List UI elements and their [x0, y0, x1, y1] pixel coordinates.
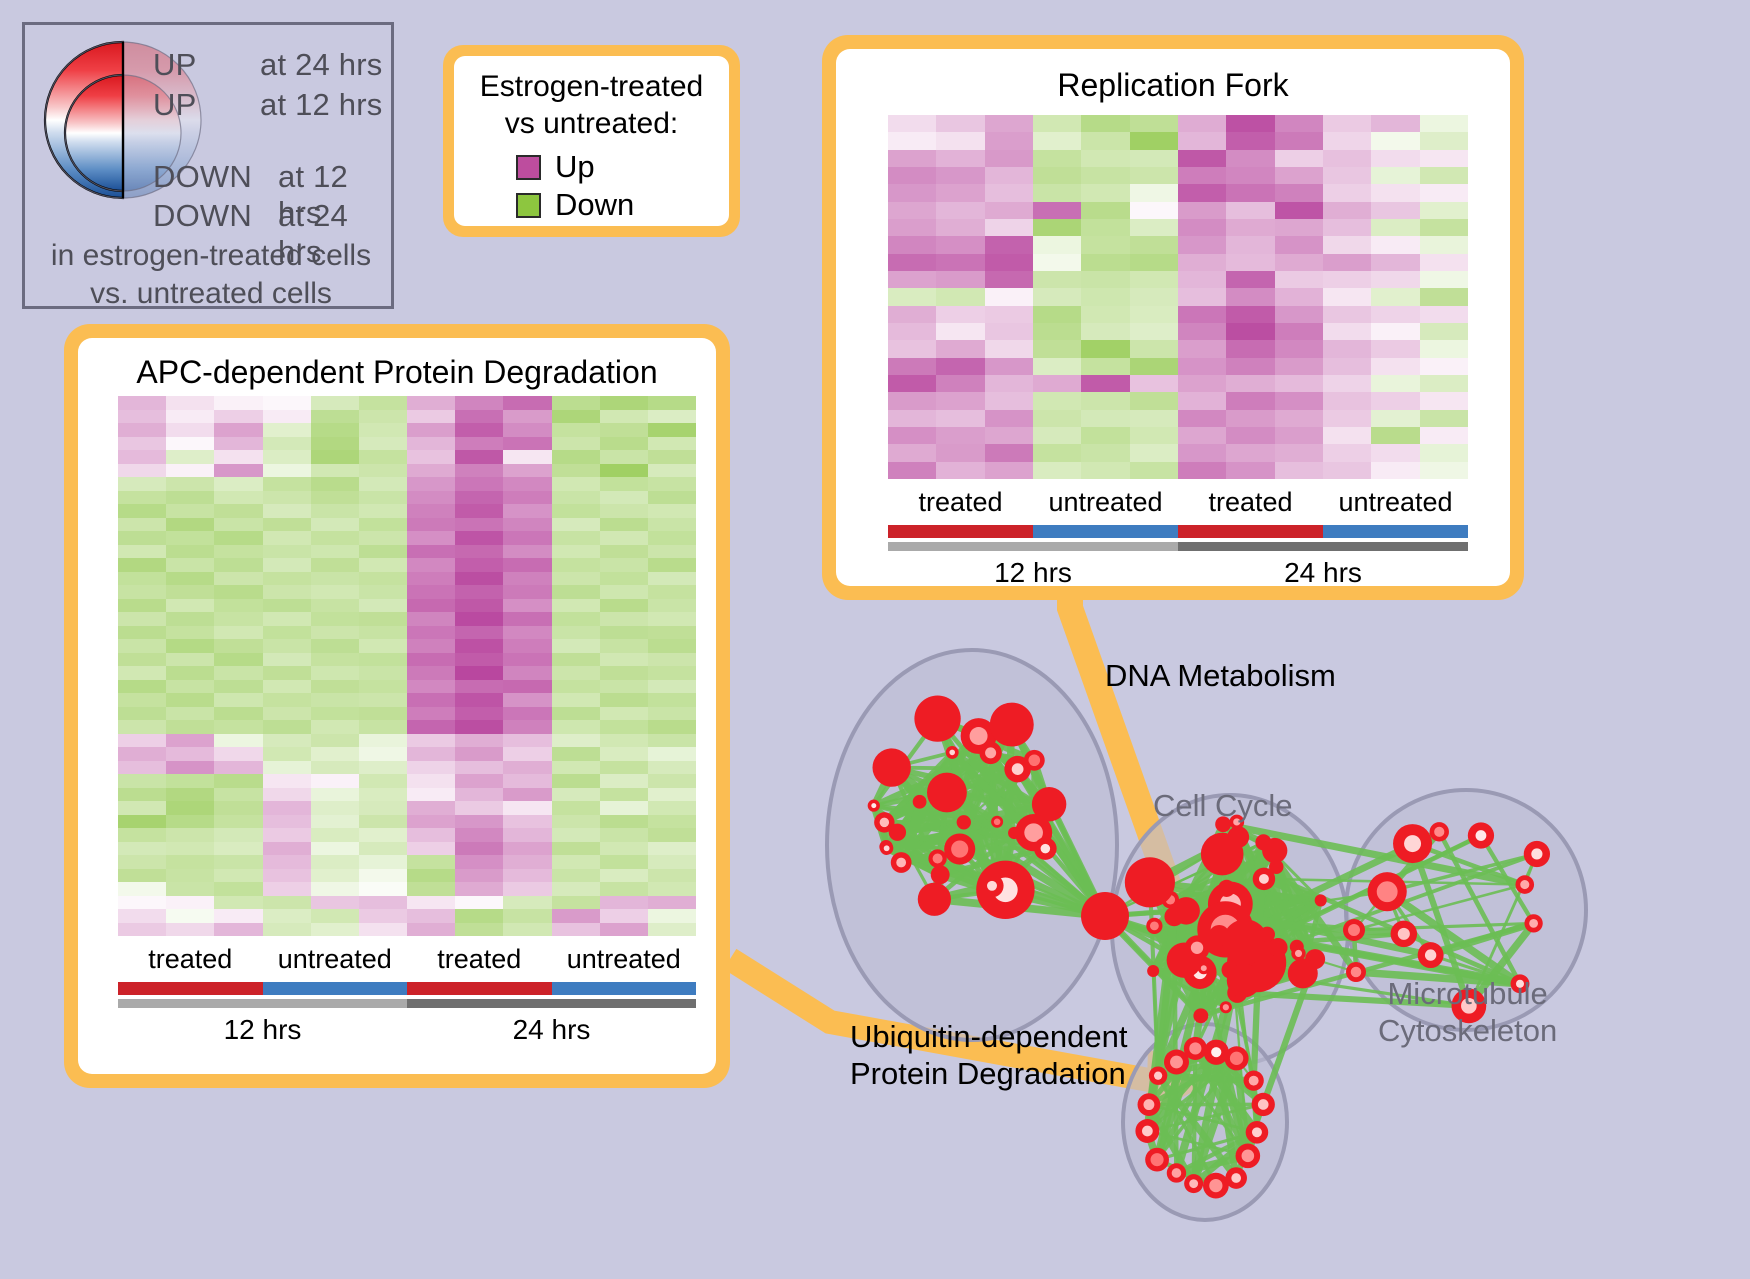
heatmap-cell [407, 518, 455, 532]
heatmap-cell [648, 477, 696, 491]
heatmap-cell [118, 464, 166, 478]
heatmap-cell [214, 612, 262, 626]
network-node[interactable] [1184, 1174, 1203, 1193]
network-node[interactable] [1225, 1046, 1249, 1070]
heatmap-cell [552, 612, 600, 626]
heatmap-cell [359, 518, 407, 532]
network-node[interactable] [931, 865, 950, 884]
heatmap-cell [936, 444, 984, 461]
heatmap-cell [1420, 202, 1468, 219]
heatmap-cell [166, 599, 214, 613]
heatmap-replication-treatment-bars [888, 525, 1468, 538]
heatmap-cell [1081, 427, 1129, 444]
heatmap-cell [455, 437, 503, 451]
heatmap-cell [985, 462, 1033, 479]
heatmap-cell [648, 558, 696, 572]
heatmap-cell [1275, 271, 1323, 288]
heatmap-cell [263, 815, 311, 829]
network-node[interactable] [1368, 872, 1407, 911]
network-node[interactable] [1203, 1173, 1229, 1199]
heatmap-cell [263, 896, 311, 910]
network-node[interactable] [1164, 907, 1183, 926]
heatmap-cell [503, 896, 551, 910]
heatmap-cell [455, 815, 503, 829]
heatmap-cell [166, 585, 214, 599]
heatmap-cell [263, 558, 311, 572]
heatmap-cell [166, 869, 214, 883]
heatmap-cell [1178, 288, 1226, 305]
heatmap-cell [118, 828, 166, 842]
heatmap-cell [936, 306, 984, 323]
heatmap-cell [214, 545, 262, 559]
network-node[interactable] [1524, 914, 1542, 932]
heatmap-cell [503, 572, 551, 586]
heatmap-cell [311, 410, 359, 424]
network-node[interactable] [1167, 1163, 1186, 1182]
heatmap-cell [1130, 306, 1178, 323]
treatment-color-bar [552, 982, 697, 995]
heatmap-cell [503, 774, 551, 788]
network-node[interactable] [880, 842, 893, 855]
heatmap-cell [1323, 410, 1371, 427]
heatmap-cell [311, 450, 359, 464]
heatmap-cell [936, 184, 984, 201]
heatmap-cell [1323, 375, 1371, 392]
network-node[interactable] [1004, 756, 1031, 783]
heatmap-cell [263, 842, 311, 856]
heatmap-cell [1420, 306, 1468, 323]
heatmap-cell [455, 801, 503, 815]
heatmap-cell [214, 410, 262, 424]
heatmap-cell [1371, 184, 1419, 201]
heatmap-cell [1178, 115, 1226, 132]
heatmap-cell [214, 693, 262, 707]
heatmap-cell [166, 558, 214, 572]
heatmap-cell [1033, 375, 1081, 392]
heatmap-cell [936, 323, 984, 340]
heatmap-cell [1275, 167, 1323, 184]
heatmap-cell [1275, 323, 1323, 340]
network-node[interactable] [1524, 841, 1550, 867]
heatmap-cell [600, 747, 648, 761]
network-node[interactable] [1227, 964, 1261, 998]
heatmap-cell [1323, 323, 1371, 340]
heatmap-cell [1420, 427, 1468, 444]
heatmap-cell [936, 254, 984, 271]
heatmap-cell [1275, 427, 1323, 444]
network-node[interactable] [957, 815, 971, 829]
cluster-label-ubiquitin-degradation: Ubiquitin-dependent Protein Degradation [850, 1018, 1128, 1092]
heatmap-cell [407, 599, 455, 613]
heatmap-cell [985, 323, 1033, 340]
heatmap-cell [263, 437, 311, 451]
heatmap-cell [455, 869, 503, 883]
heatmap-cell [263, 639, 311, 653]
heatmap-cell [1420, 150, 1468, 167]
network-node[interactable] [1138, 1093, 1161, 1116]
heatmap-cell [359, 747, 407, 761]
heatmap-cell [1275, 184, 1323, 201]
network-node[interactable] [1201, 833, 1244, 876]
heatmap-cell [214, 761, 262, 775]
heatmap-cell [503, 545, 551, 559]
heatmap-cell [648, 720, 696, 734]
network-node[interactable] [1246, 1121, 1269, 1144]
heatmap-cell [985, 271, 1033, 288]
treatment-label: treated [407, 944, 552, 975]
treatment-color-bar [888, 525, 1033, 538]
network-node[interactable] [1034, 837, 1057, 860]
heatmap-cell [1420, 254, 1468, 271]
network-node[interactable] [946, 746, 959, 759]
heatmap-cell [888, 375, 936, 392]
network-node[interactable] [1244, 1071, 1264, 1091]
heatmap-cell [1178, 202, 1226, 219]
heatmap-cell [1081, 115, 1129, 132]
heatmap-cell [1371, 254, 1419, 271]
heatmap-cell [1033, 254, 1081, 271]
heatmap-cell [1033, 202, 1081, 219]
network-node[interactable] [1135, 1119, 1159, 1143]
heatmap-cell [648, 437, 696, 451]
heatmap-cell [1275, 358, 1323, 375]
heatmap-cell [1371, 444, 1419, 461]
heatmap-cell [1130, 323, 1178, 340]
heatmap-cell [600, 626, 648, 640]
heatmap-cell [503, 504, 551, 518]
heatmap-cell [600, 801, 648, 815]
heatmap-cell [600, 828, 648, 842]
heatmap-cell [359, 653, 407, 667]
heatmap-cell [166, 666, 214, 680]
heatmap-cell [263, 585, 311, 599]
treatment-color-bar [1033, 525, 1178, 538]
heatmap-cell [214, 423, 262, 437]
network-node[interactable] [918, 883, 951, 916]
heatmap-cell [263, 531, 311, 545]
network-node[interactable] [990, 703, 1034, 747]
heatmap-cell [118, 545, 166, 559]
heatmap-cell [1323, 462, 1371, 479]
network-node[interactable] [1125, 857, 1175, 907]
heatmap-cell [1275, 115, 1323, 132]
heatmap-cell [1420, 184, 1468, 201]
legend-item-up: Up [516, 149, 729, 185]
heatmap-cell [648, 734, 696, 748]
heatmap-cell [985, 288, 1033, 305]
heatmap-cell [214, 396, 262, 410]
legend-direction-down-24: DOWN [153, 198, 252, 234]
network-node[interactable] [1218, 880, 1235, 897]
heatmap-cell [359, 788, 407, 802]
network-node[interactable] [891, 852, 912, 873]
heatmap-replication-time-bars [888, 542, 1468, 551]
network-node[interactable] [1252, 1093, 1275, 1116]
heatmap-cell [166, 801, 214, 815]
heatmap-cell [1033, 444, 1081, 461]
heatmap-cell [359, 882, 407, 896]
heatmap-cell [600, 734, 648, 748]
heatmap-cell [263, 734, 311, 748]
heatmap-cell [1275, 462, 1323, 479]
heatmap-cell [1226, 306, 1274, 323]
heatmap-cell [263, 693, 311, 707]
heatmap-cell [1130, 410, 1178, 427]
heatmap-cell [407, 734, 455, 748]
heatmap-cell [166, 707, 214, 721]
network-node[interactable] [1220, 1001, 1232, 1013]
heatmap-cell [1081, 288, 1129, 305]
network-node[interactable] [1223, 919, 1268, 964]
heatmap-cell [600, 585, 648, 599]
heatmap-cell [552, 801, 600, 815]
panel-apc-sheet: APC-dependent Protein Degradation treate… [78, 338, 716, 1074]
heatmap-cell [648, 572, 696, 586]
heatmap-cell [1081, 375, 1129, 392]
heatmap-cell [552, 788, 600, 802]
legend-direction-up-12: UP [153, 87, 196, 123]
heatmap-cell [214, 464, 262, 478]
heatmap-cell [455, 774, 503, 788]
heatmap-cell [1226, 392, 1274, 409]
heatmap-cell [311, 626, 359, 640]
heatmap-cell [1323, 392, 1371, 409]
heatmap-cell [552, 828, 600, 842]
heatmap-cell [1323, 271, 1371, 288]
heatmap-cell [455, 558, 503, 572]
heatmap-cell [1275, 306, 1323, 323]
heatmap-cell [1130, 462, 1178, 479]
heatmap-cell [214, 450, 262, 464]
network-node[interactable] [914, 695, 960, 741]
heatmap-cell [1275, 254, 1323, 271]
heatmap-cell [214, 896, 262, 910]
network-node[interactable] [1391, 921, 1418, 948]
heatmap-cell [1226, 444, 1274, 461]
network-node[interactable] [1260, 927, 1275, 942]
heatmap-cell [1033, 323, 1081, 340]
heatmap-cell [1275, 392, 1323, 409]
heatmap-cell [648, 491, 696, 505]
time-color-bar [888, 542, 1178, 551]
heatmap-cell [118, 761, 166, 775]
network-node[interactable] [873, 748, 911, 786]
network-node[interactable] [1185, 935, 1210, 960]
heatmap-cell [552, 585, 600, 599]
heatmap-cell [936, 410, 984, 427]
heatmap-cell [936, 150, 984, 167]
network-node[interactable] [1236, 1144, 1261, 1169]
heatmap-cell [1033, 410, 1081, 427]
heatmap-cell [214, 653, 262, 667]
network-node[interactable] [1255, 834, 1271, 850]
heatmap-cell [648, 626, 696, 640]
heatmap-cell [263, 747, 311, 761]
heatmap-cell [985, 219, 1033, 236]
network-node[interactable] [1081, 892, 1129, 940]
heatmap-cell [263, 707, 311, 721]
network-node[interactable] [1515, 875, 1534, 894]
heatmap-cell [118, 477, 166, 491]
estrogen-legend-title-line1: Estrogen-treated [454, 69, 729, 106]
heatmap-cell [1323, 150, 1371, 167]
heatmap-cell [359, 585, 407, 599]
heatmap-cell [263, 545, 311, 559]
heatmap-cell [407, 774, 455, 788]
heatmap-cell [552, 707, 600, 721]
network-node[interactable] [1145, 1148, 1169, 1172]
heatmap-cell [1178, 219, 1226, 236]
heatmap-cell [600, 869, 648, 883]
heatmap-cell [985, 410, 1033, 427]
heatmap-cell [888, 340, 936, 357]
network-node[interactable] [1146, 918, 1162, 934]
heatmap-cell [359, 761, 407, 775]
network-node[interactable] [1184, 1037, 1207, 1060]
heatmap-cell [166, 626, 214, 640]
heatmap-cell [552, 734, 600, 748]
network-node[interactable] [979, 742, 1001, 764]
heatmap-cell [1130, 132, 1178, 149]
heatmap-cell [118, 585, 166, 599]
heatmap-cell [407, 842, 455, 856]
heatmap-cell [311, 882, 359, 896]
heatmap-cell [1226, 167, 1274, 184]
heatmap-cell [311, 923, 359, 937]
heatmap-cell [455, 612, 503, 626]
heatmap-cell [455, 734, 503, 748]
network-node[interactable] [927, 773, 967, 813]
network-node[interactable] [1193, 1008, 1208, 1023]
figure-root: UP at 24 hrs UP at 12 hrs DOWN at 12 hrs… [0, 0, 1750, 1279]
heatmap-cell [455, 680, 503, 694]
heatmap-cell [166, 450, 214, 464]
network-node[interactable] [928, 849, 946, 867]
treatment-color-bar [263, 982, 408, 995]
heatmap-cell [1081, 358, 1129, 375]
heatmap-cell [648, 599, 696, 613]
heatmap-cell [985, 202, 1033, 219]
network-node[interactable] [1288, 958, 1318, 988]
network-node[interactable] [1149, 1066, 1167, 1084]
heatmap-cell [1130, 392, 1178, 409]
network-node[interactable] [1147, 965, 1159, 977]
heatmap-cell [1226, 427, 1274, 444]
heatmap-cell [263, 518, 311, 532]
network-node[interactable] [1343, 919, 1365, 941]
network-node[interactable] [1468, 822, 1494, 848]
heatmap-cell [1420, 167, 1468, 184]
panel-apc-degradation: APC-dependent Protein Degradation treate… [64, 324, 730, 1088]
cluster-label-microtubule-cytoskeleton: Microtubule Cytoskeleton [1378, 975, 1557, 1049]
heatmap-cell [118, 720, 166, 734]
network-node[interactable] [913, 795, 927, 809]
heatmap-cell [407, 761, 455, 775]
network-node[interactable] [1418, 942, 1444, 968]
heatmap-cell [455, 855, 503, 869]
heatmap-cell [1226, 132, 1274, 149]
heatmap-cell [648, 612, 696, 626]
heatmap-cell [263, 464, 311, 478]
heatmap-cell [1226, 219, 1274, 236]
heatmap-cell [166, 909, 214, 923]
heatmap-cell [263, 572, 311, 586]
heatmap-cell [1420, 410, 1468, 427]
network-node[interactable] [1393, 824, 1432, 863]
network-node[interactable] [1269, 938, 1288, 957]
heatmap-cell [1371, 358, 1419, 375]
heatmap-cell [888, 184, 936, 201]
network-node[interactable] [874, 812, 894, 832]
heatmap-cell [1226, 323, 1274, 340]
heatmap-cell [1371, 306, 1419, 323]
heatmap-cell [118, 788, 166, 802]
heatmap-cell [118, 707, 166, 721]
treatment-color-bar [1323, 525, 1468, 538]
heatmap-cell [1178, 462, 1226, 479]
heatmap-cell [1081, 306, 1129, 323]
heatmap-cell [166, 680, 214, 694]
network-node[interactable] [1315, 894, 1327, 906]
heatmap-cell [455, 693, 503, 707]
heatmap-cell [214, 477, 262, 491]
heatmap-cell [263, 801, 311, 815]
heatmap-cell [1275, 150, 1323, 167]
heatmap-cell [455, 410, 503, 424]
heatmap-cell [1371, 167, 1419, 184]
heatmap-cell [1226, 271, 1274, 288]
heatmap-cell [359, 423, 407, 437]
heatmap-cell [1130, 358, 1178, 375]
network-node[interactable] [991, 816, 1003, 828]
network-node[interactable] [1291, 946, 1305, 960]
network-node[interactable] [1430, 822, 1449, 841]
heatmap-cell [407, 558, 455, 572]
heatmap-cell [166, 477, 214, 491]
panel-replication-sheet: Replication Fork treateduntreatedtreated… [836, 49, 1510, 586]
heatmap-cell [407, 747, 455, 761]
network-node[interactable] [868, 800, 880, 812]
heatmap-cell [359, 545, 407, 559]
heatmap-cell [503, 828, 551, 842]
heatmap-cell [936, 288, 984, 305]
heatmap-cell [552, 572, 600, 586]
heatmap-cell [263, 882, 311, 896]
heatmap-cell [985, 254, 1033, 271]
heatmap-cell [407, 815, 455, 829]
heatmap-cell [359, 801, 407, 815]
heatmap-cell [600, 518, 648, 532]
heatmap-cell [503, 410, 551, 424]
heatmap-cell [263, 626, 311, 640]
heatmap-cell [936, 358, 984, 375]
network-node[interactable] [980, 874, 1003, 897]
heatmap-cell [214, 828, 262, 842]
network-node[interactable] [944, 833, 975, 864]
time-label: 12 hrs [118, 1014, 407, 1046]
heatmap-cell [455, 923, 503, 937]
heatmap-cell [648, 774, 696, 788]
heatmap-cell [359, 720, 407, 734]
heatmap-cell [888, 132, 936, 149]
heatmap-cell [118, 639, 166, 653]
heatmap-cell [1033, 306, 1081, 323]
heatmap-cell [166, 504, 214, 518]
heatmap-cell [1323, 184, 1371, 201]
heatmap-cell [407, 450, 455, 464]
network-node[interactable] [1346, 962, 1366, 982]
heatmap-cell [311, 896, 359, 910]
